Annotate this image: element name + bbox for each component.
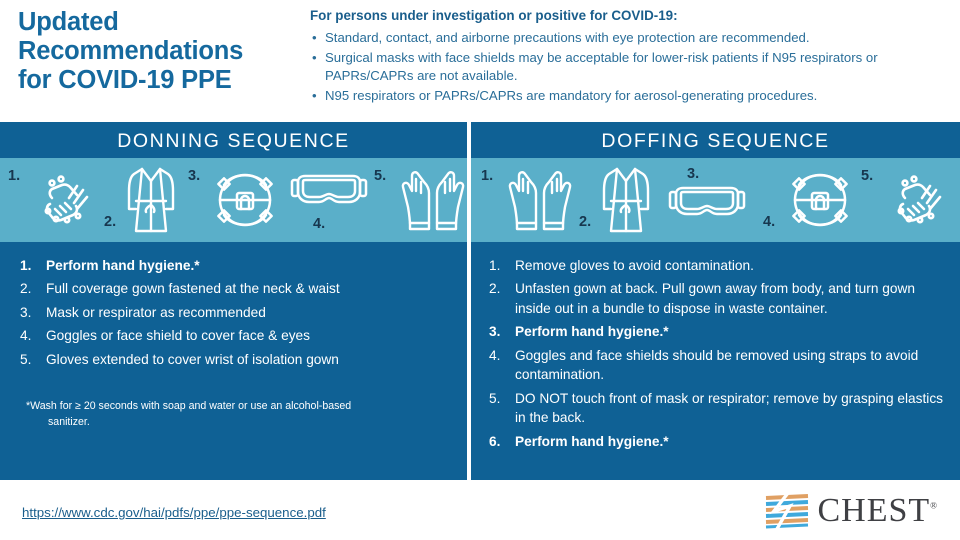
doffing-step: 3. Perform hand hygiene.* — [487, 322, 947, 341]
doffing-icon-strip: 1. — [471, 158, 960, 242]
column-divider — [467, 122, 471, 480]
respirator-icon — [783, 164, 857, 241]
bullet-icon: • — [312, 87, 317, 104]
cdc-ppe-sequence-link[interactable]: https://www.cdc.gov/hai/pdfs/ppe/ppe-seq… — [22, 505, 326, 520]
note-text: N95 respirators or PAPRs/CAPRs are manda… — [325, 88, 817, 103]
step-text: Perform hand hygiene.* — [46, 258, 200, 273]
step-number: 5. — [20, 350, 31, 369]
step-text: Perform hand hygiene.* — [515, 324, 669, 339]
note-item: • Standard, contact, and airborne precau… — [310, 29, 946, 46]
donning-icon-number-3: 3. — [188, 168, 200, 184]
step-text: DO NOT touch front of mask or respirator… — [515, 391, 943, 425]
donning-icon-strip: 1. — [0, 158, 467, 242]
donning-heading: DONNING SEQUENCE — [0, 126, 467, 156]
donning-footnote: *Wash for ≥ 20 seconds with soap and wat… — [26, 399, 426, 431]
step-number: 4. — [20, 326, 31, 345]
sequences-panel: DONNING SEQUENCE DOFFING SEQUENCE 1. — [0, 122, 960, 480]
step-number: 2. — [20, 279, 31, 298]
step-text: Full coverage gown fastened at the neck … — [46, 281, 340, 296]
donning-steps-list: 1. Perform hand hygiene.* 2. Full covera… — [18, 256, 448, 373]
chest-logo: CHEST® — [764, 490, 938, 532]
infographic-page: Updated Recommendations for COVID-19 PPE… — [0, 0, 960, 540]
page-title: Updated Recommendations for COVID-19 PPE — [18, 8, 300, 95]
goggles-icon — [665, 184, 749, 235]
donning-step: 4. Goggles or face shield to cover face … — [18, 326, 448, 345]
registered-mark-icon: ® — [930, 501, 938, 511]
step-number: 6. — [489, 432, 500, 451]
donning-step: 1. Perform hand hygiene.* — [18, 256, 448, 275]
page-title-line-1: Updated — [18, 8, 300, 37]
step-number: 3. — [489, 322, 500, 341]
doffing-step: 1. Remove gloves to avoid contamination. — [487, 256, 947, 275]
notes-column: For persons under investigation or posit… — [300, 0, 960, 122]
step-number: 3. — [20, 303, 31, 322]
gloves-icon — [396, 163, 470, 242]
doffing-icon-number-3: 3. — [687, 166, 699, 182]
donning-icon-number-1: 1. — [8, 168, 20, 184]
step-text: Remove gloves to avoid contamination. — [515, 258, 754, 273]
chest-logo-mark-icon — [764, 493, 810, 529]
step-text: Goggles and face shields should be remov… — [515, 348, 918, 382]
gloves-icon — [503, 163, 577, 242]
gown-icon — [597, 161, 655, 244]
respirator-icon — [208, 164, 282, 241]
doffing-icon-number-1: 1. — [481, 168, 493, 184]
page-title-line-2: Recommendations — [18, 37, 300, 66]
doffing-step: 6. Perform hand hygiene.* — [487, 432, 947, 451]
step-number: 1. — [489, 256, 500, 275]
note-text: Surgical masks with face shields may be … — [325, 50, 878, 82]
doffing-step: 4. Goggles and face shields should be re… — [487, 346, 947, 385]
notes-list: • Standard, contact, and airborne precau… — [310, 29, 946, 105]
step-number: 4. — [489, 346, 500, 365]
doffing-icon-number-2: 2. — [579, 214, 591, 230]
chest-logo-text: CHEST® — [817, 494, 938, 528]
step-text: Unfasten gown at back. Pull gown away fr… — [515, 281, 915, 315]
doffing-steps-list: 1. Remove gloves to avoid contamination.… — [487, 256, 947, 455]
step-text: Goggles or face shield to cover face & e… — [46, 328, 310, 343]
hand-hygiene-icon — [883, 164, 955, 241]
footer-area: https://www.cdc.gov/hai/pdfs/ppe/ppe-seq… — [0, 480, 960, 540]
page-title-line-3: for COVID-19 PPE — [18, 66, 300, 95]
doffing-step: 5. DO NOT touch front of mask or respira… — [487, 389, 947, 428]
donning-step: 5. Gloves extended to cover wrist of iso… — [18, 350, 448, 369]
notes-heading: For persons under investigation or posit… — [310, 8, 946, 25]
chest-wordmark: CHEST — [817, 492, 930, 529]
step-number: 5. — [489, 389, 500, 408]
title-column: Updated Recommendations for COVID-19 PPE — [0, 0, 300, 122]
step-number: 1. — [20, 256, 31, 275]
goggles-icon — [287, 172, 371, 223]
footnote-line-2: sanitizer. — [26, 415, 426, 431]
bullet-icon: • — [312, 49, 317, 66]
donning-icon-number-2: 2. — [104, 214, 116, 230]
step-text: Gloves extended to cover wrist of isolat… — [46, 352, 339, 367]
doffing-step: 2. Unfasten gown at back. Pull gown away… — [487, 279, 947, 318]
note-item: • N95 respirators or PAPRs/CAPRs are man… — [310, 87, 946, 104]
step-text: Mask or respirator as recommended — [46, 305, 266, 320]
donning-step: 3. Mask or respirator as recommended — [18, 303, 448, 322]
note-text: Standard, contact, and airborne precauti… — [325, 30, 810, 45]
bullet-icon: • — [312, 29, 317, 46]
donning-step: 2. Full coverage gown fastened at the ne… — [18, 279, 448, 298]
gown-icon — [122, 161, 180, 244]
donning-icon-number-5: 5. — [374, 168, 386, 184]
hand-hygiene-icon — [30, 164, 102, 241]
step-number: 2. — [489, 279, 500, 298]
doffing-icon-number-4: 4. — [763, 214, 775, 230]
doffing-icon-number-5: 5. — [861, 168, 873, 184]
step-text: Perform hand hygiene.* — [515, 434, 669, 449]
note-item: • Surgical masks with face shields may b… — [310, 49, 946, 84]
header-area: Updated Recommendations for COVID-19 PPE… — [0, 0, 960, 122]
doffing-heading: DOFFING SEQUENCE — [471, 126, 960, 156]
footnote-line-1: *Wash for ≥ 20 seconds with soap and wat… — [26, 400, 351, 412]
